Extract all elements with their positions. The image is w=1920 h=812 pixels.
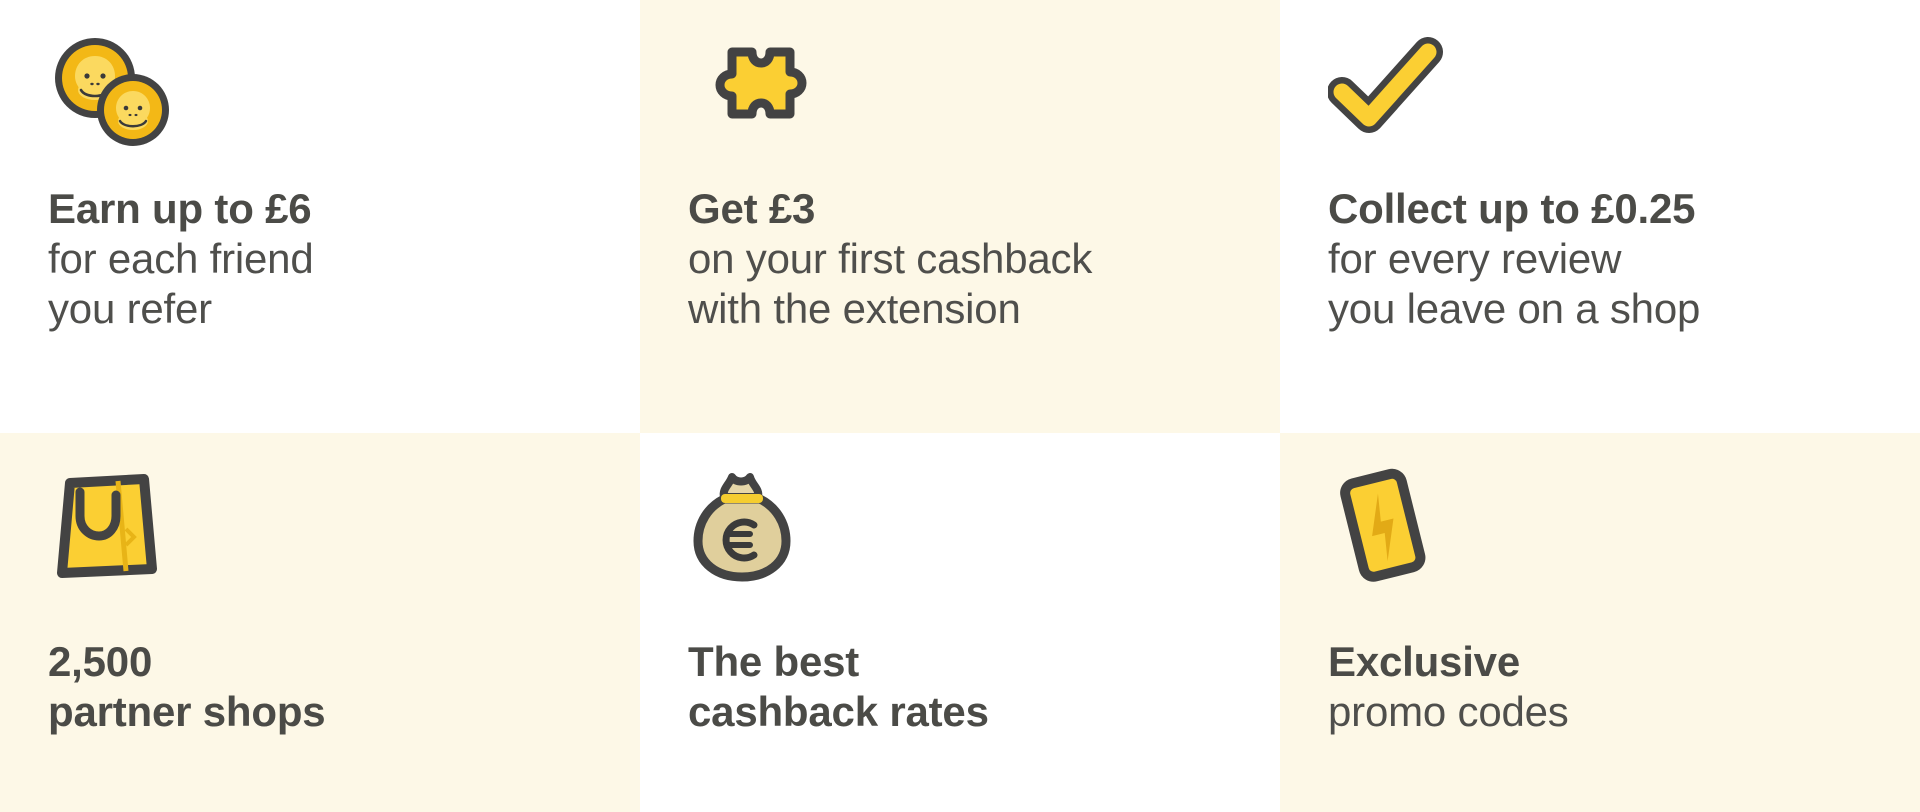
money-bag-icon — [688, 467, 1232, 585]
benefit-card-browser-extension[interactable]: Get £3 on your first cashback with the e… — [640, 0, 1280, 433]
two-monkey-coins-icon — [48, 34, 592, 146]
benefit-subline-2: with the extension — [688, 284, 1232, 334]
benefit-subline-2: you leave on a shop — [1328, 284, 1872, 334]
puzzle-piece-icon — [688, 34, 1232, 146]
benefit-text-block: Exclusive promo codes — [1328, 637, 1872, 737]
benefit-card-shop-reviews[interactable]: Collect up to £0.25 for every review you… — [1280, 0, 1920, 433]
benefit-text-block: The best cashback rates — [688, 637, 1232, 737]
benefit-headline: Earn up to £6 — [48, 184, 592, 234]
shopping-bag-icon — [48, 467, 592, 585]
benefit-text-block: 2,500 partner shops — [48, 637, 592, 737]
benefit-subline-2: you refer — [48, 284, 592, 334]
lightning-card-icon — [1328, 467, 1872, 585]
benefit-subline-1: promo codes — [1328, 687, 1872, 737]
benefits-grid: Earn up to £6 for each friend you refer … — [0, 0, 1920, 812]
benefit-headline: The best — [688, 637, 1232, 687]
benefit-headline: Get £3 — [688, 184, 1232, 234]
benefit-subline-1: cashback rates — [688, 687, 1232, 737]
benefit-text-block: Get £3 on your first cashback with the e… — [688, 184, 1232, 334]
benefit-card-promo-codes[interactable]: Exclusive promo codes — [1280, 433, 1920, 812]
benefit-subline-1: for every review — [1328, 234, 1872, 284]
benefit-card-partner-shops[interactable]: 2,500 partner shops — [0, 433, 640, 812]
benefit-headline: Exclusive — [1328, 637, 1872, 687]
benefit-headline: Collect up to £0.25 — [1328, 184, 1872, 234]
benefit-card-cashback-rates[interactable]: The best cashback rates — [640, 433, 1280, 812]
benefit-subline-1: partner shops — [48, 687, 592, 737]
checkmark-icon — [1328, 34, 1872, 146]
benefit-headline: 2,500 — [48, 637, 592, 687]
benefit-subline-1: for each friend — [48, 234, 592, 284]
benefit-text-block: Collect up to £0.25 for every review you… — [1328, 184, 1872, 334]
benefit-text-block: Earn up to £6 for each friend you refer — [48, 184, 592, 334]
benefit-subline-1: on your first cashback — [688, 234, 1232, 284]
benefit-card-refer-a-friend[interactable]: Earn up to £6 for each friend you refer — [0, 0, 640, 433]
